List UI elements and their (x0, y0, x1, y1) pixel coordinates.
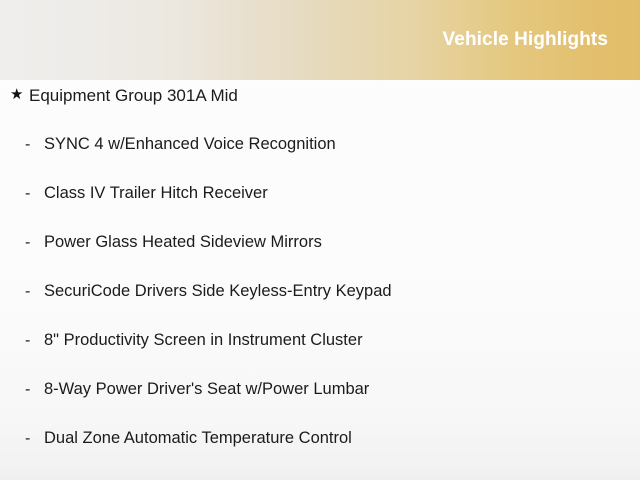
dash-bullet-icon: - (25, 234, 44, 252)
list-item-label: Equipment Group 301A Mid (29, 86, 238, 106)
list-item-label: 8" Productivity Screen in Instrument Clu… (44, 331, 363, 351)
list-item: - Dual Zone Automatic Temperature Contro… (0, 429, 640, 478)
dash-bullet-icon: - (25, 283, 44, 301)
dash-bullet-icon: - (25, 381, 44, 399)
page-title: Vehicle Highlights (443, 30, 640, 49)
list-item: - Class IV Trailer Hitch Receiver (0, 184, 640, 233)
list-item: - 8-Way Power Driver's Seat w/Power Lumb… (0, 380, 640, 429)
list-item-label: 8-Way Power Driver's Seat w/Power Lumbar (44, 380, 369, 400)
dash-bullet-icon: - (25, 430, 44, 448)
list-item-label: SYNC 4 w/Enhanced Voice Recognition (44, 135, 336, 155)
list-item: - Power Glass Heated Sideview Mirrors (0, 233, 640, 282)
list-item-label: Power Glass Heated Sideview Mirrors (44, 233, 322, 253)
list-item: - SecuriCode Drivers Side Keyless-Entry … (0, 282, 640, 331)
dash-bullet-icon: - (25, 185, 44, 203)
dash-bullet-icon: - (25, 332, 44, 350)
vehicle-highlights-list: ★ Equipment Group 301A Mid - SYNC 4 w/En… (0, 86, 640, 478)
dash-bullet-icon: - (25, 136, 44, 154)
vehicle-highlights-banner: Vehicle Highlights (0, 0, 640, 80)
vehicle-highlights-page: Vehicle Highlights ★ Equipment Group 301… (0, 0, 640, 480)
star-icon: ★ (10, 87, 29, 102)
list-item-label: Class IV Trailer Hitch Receiver (44, 184, 268, 204)
list-item: - 8" Productivity Screen in Instrument C… (0, 331, 640, 380)
list-item-label: Dual Zone Automatic Temperature Control (44, 429, 352, 449)
list-item-label: SecuriCode Drivers Side Keyless-Entry Ke… (44, 282, 392, 302)
list-item: - SYNC 4 w/Enhanced Voice Recognition (0, 135, 640, 184)
list-item: ★ Equipment Group 301A Mid (0, 86, 640, 135)
